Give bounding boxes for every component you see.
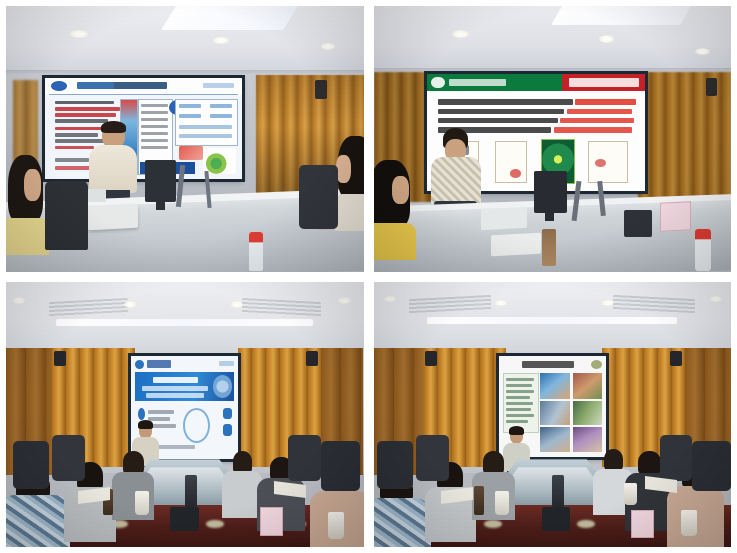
slide-table-row — [141, 132, 169, 135]
slide-bullet-line — [55, 158, 88, 161]
slide-diagram-node — [210, 114, 232, 118]
slide-logo-badge — [51, 81, 67, 91]
slide-banner-subtitle — [146, 393, 204, 398]
ceiling-downlight — [124, 301, 136, 307]
presenter-blouse — [431, 157, 481, 204]
slide-diagram-node — [223, 424, 232, 435]
slide-banner-left-text — [449, 79, 506, 86]
slide-diagram-node — [179, 125, 232, 129]
attendee-top — [6, 495, 70, 547]
slide-banner-icon — [213, 375, 232, 398]
water-bottle — [695, 229, 711, 271]
slide-diagram-node — [223, 408, 232, 419]
slide-text-line — [506, 378, 534, 381]
ceiling-light-strip — [552, 6, 696, 25]
wall-speaker-icon — [706, 78, 717, 97]
ceiling-downlight — [452, 30, 468, 38]
slide-table-row — [141, 139, 169, 142]
slide-body-line-highlight — [567, 109, 632, 114]
slide-bullet-line — [55, 113, 116, 117]
attendee-face — [24, 169, 41, 201]
attendee-top — [374, 498, 431, 547]
attendee-face — [336, 155, 351, 183]
slide-photo-thumbnail — [573, 401, 602, 425]
ceiling-light-strip — [161, 6, 301, 30]
paper-cup — [328, 512, 344, 539]
photo-panel-top-left[interactable] — [6, 6, 364, 272]
scene-bottom-right — [374, 282, 732, 548]
attendee-top — [335, 194, 364, 230]
slide-body-line — [438, 109, 564, 114]
certificate-seal — [595, 159, 606, 167]
photo-collage — [0, 0, 737, 553]
slide-table-row — [141, 125, 169, 128]
scene-top-left — [6, 6, 364, 272]
slide-title-text — [77, 82, 167, 89]
slide-banner-logo — [431, 77, 444, 89]
presenter-shirt — [89, 145, 137, 193]
slide-diagram-node — [179, 114, 201, 118]
ceiling-downlight — [338, 297, 350, 303]
slide-banner-title — [153, 377, 198, 383]
attendee-face — [392, 176, 409, 204]
office-chair — [377, 441, 413, 489]
monitor — [534, 171, 566, 213]
slide-body-line — [438, 118, 558, 123]
thermos-bottle — [552, 475, 564, 507]
slide-header-logo-right — [203, 83, 234, 88]
slide-text-line — [506, 390, 534, 393]
slide-text-line — [506, 384, 532, 387]
slide-header-rule — [49, 94, 238, 95]
seated-attendee — [374, 160, 424, 272]
slide-photo-thumbnail — [179, 146, 203, 160]
office-chair — [299, 165, 338, 229]
slide-text-line — [506, 420, 527, 423]
wall-speaker-icon — [306, 351, 317, 367]
water-bottle — [249, 232, 263, 272]
thermos-bottle — [185, 475, 197, 507]
ceiling-light-strip — [427, 317, 677, 324]
presenter-hair — [509, 426, 524, 435]
slide-bullet-line — [55, 166, 92, 169]
slide-diagram-node — [138, 408, 146, 420]
paper-cup — [495, 491, 509, 515]
name-placard — [660, 202, 691, 232]
slide-diagram-node — [179, 104, 201, 108]
scene-bottom-left — [6, 282, 364, 548]
slide-header-title — [522, 361, 573, 368]
projector-box — [542, 507, 571, 531]
photo-panel-bottom-right[interactable] — [374, 282, 732, 548]
name-placard — [631, 510, 654, 539]
slide-photo-thumbnail — [540, 401, 570, 425]
slide-photo-thumbnail — [540, 427, 570, 451]
attendee-hair — [638, 451, 661, 475]
attendee-top — [374, 223, 417, 260]
slide-text-line — [506, 408, 531, 411]
seated-attendee-right — [335, 136, 364, 242]
ceiling-light-strip — [56, 319, 313, 326]
office-chair — [45, 181, 88, 250]
office-chair — [13, 441, 49, 489]
slide-header-logo — [591, 360, 602, 369]
window-curtain — [638, 72, 731, 202]
ceiling-downlight — [13, 297, 25, 303]
attendee — [110, 451, 156, 520]
projector-box — [170, 507, 199, 531]
slide-bullet-line — [55, 107, 120, 111]
slide-header-logo — [135, 360, 144, 369]
wall-speaker-icon — [54, 351, 65, 367]
slide-photo-thumbnail — [203, 148, 236, 173]
slide-diagram-text — [148, 410, 174, 414]
slide-diagram-text — [148, 417, 169, 421]
slide-body-line-highlight — [575, 99, 636, 104]
scene-top-right — [374, 6, 732, 272]
wall-speaker-icon — [315, 80, 327, 99]
conference-unit — [88, 204, 138, 231]
ceiling-downlight — [213, 37, 229, 44]
slide-body-line-highlight — [554, 127, 633, 132]
slide-photo-thumbnail — [573, 373, 602, 399]
paper-cup — [624, 483, 637, 504]
attendee-top — [6, 218, 49, 255]
slide-bullet-line — [55, 101, 114, 105]
attendee-hair — [604, 449, 624, 472]
monitor-stand — [545, 210, 554, 221]
conference-unit — [481, 207, 527, 231]
ceiling-downlight — [321, 43, 335, 50]
slide-header-logo-text — [147, 360, 171, 367]
slide-diagram-circle — [183, 408, 211, 443]
monitor-stand — [156, 200, 165, 211]
slide-table-row — [141, 118, 169, 121]
speaker-box — [624, 210, 653, 237]
slide-text-line — [506, 402, 533, 405]
slide-text-line — [506, 414, 534, 417]
conference-unit — [491, 233, 541, 257]
office-chair — [416, 435, 448, 480]
certificate-seal — [510, 169, 521, 177]
projection-screen — [45, 78, 242, 179]
office-chair — [52, 435, 84, 480]
thermos-bottle — [474, 486, 485, 515]
slide-diagram-node — [210, 104, 232, 108]
office-chair — [288, 435, 320, 480]
collage-grid — [6, 6, 731, 547]
slide-banner-right-text — [569, 78, 639, 86]
slide-diagram-node — [179, 134, 232, 138]
name-placard — [260, 507, 283, 536]
slide-photo-thumbnail — [540, 373, 570, 399]
paper-cup — [135, 491, 149, 515]
thermos-bottle — [542, 229, 556, 266]
photo-panel-bottom-left[interactable] — [6, 282, 364, 548]
slide-header-right-mark — [219, 361, 234, 366]
slide-body-line-highlight — [560, 118, 634, 123]
office-chair — [321, 441, 360, 491]
photo-panel-top-right[interactable] — [374, 6, 732, 272]
slide-body-line — [438, 99, 573, 104]
slide-banner-subtitle — [142, 386, 208, 391]
presenter-hair — [138, 420, 153, 429]
slide-text-line — [506, 396, 530, 399]
wall-speaker-icon — [670, 351, 681, 367]
slide-table-row — [141, 111, 169, 114]
wall-speaker-icon — [425, 351, 436, 367]
slide-table-row — [141, 146, 169, 149]
paper-cup — [681, 510, 697, 537]
office-chair — [660, 435, 692, 480]
presenter-hair — [101, 121, 126, 133]
ceiling-downlight — [231, 301, 243, 307]
slide-table-row — [141, 104, 169, 107]
monitor — [145, 160, 175, 202]
office-chair — [692, 441, 731, 491]
ceiling-downlight — [599, 35, 614, 42]
